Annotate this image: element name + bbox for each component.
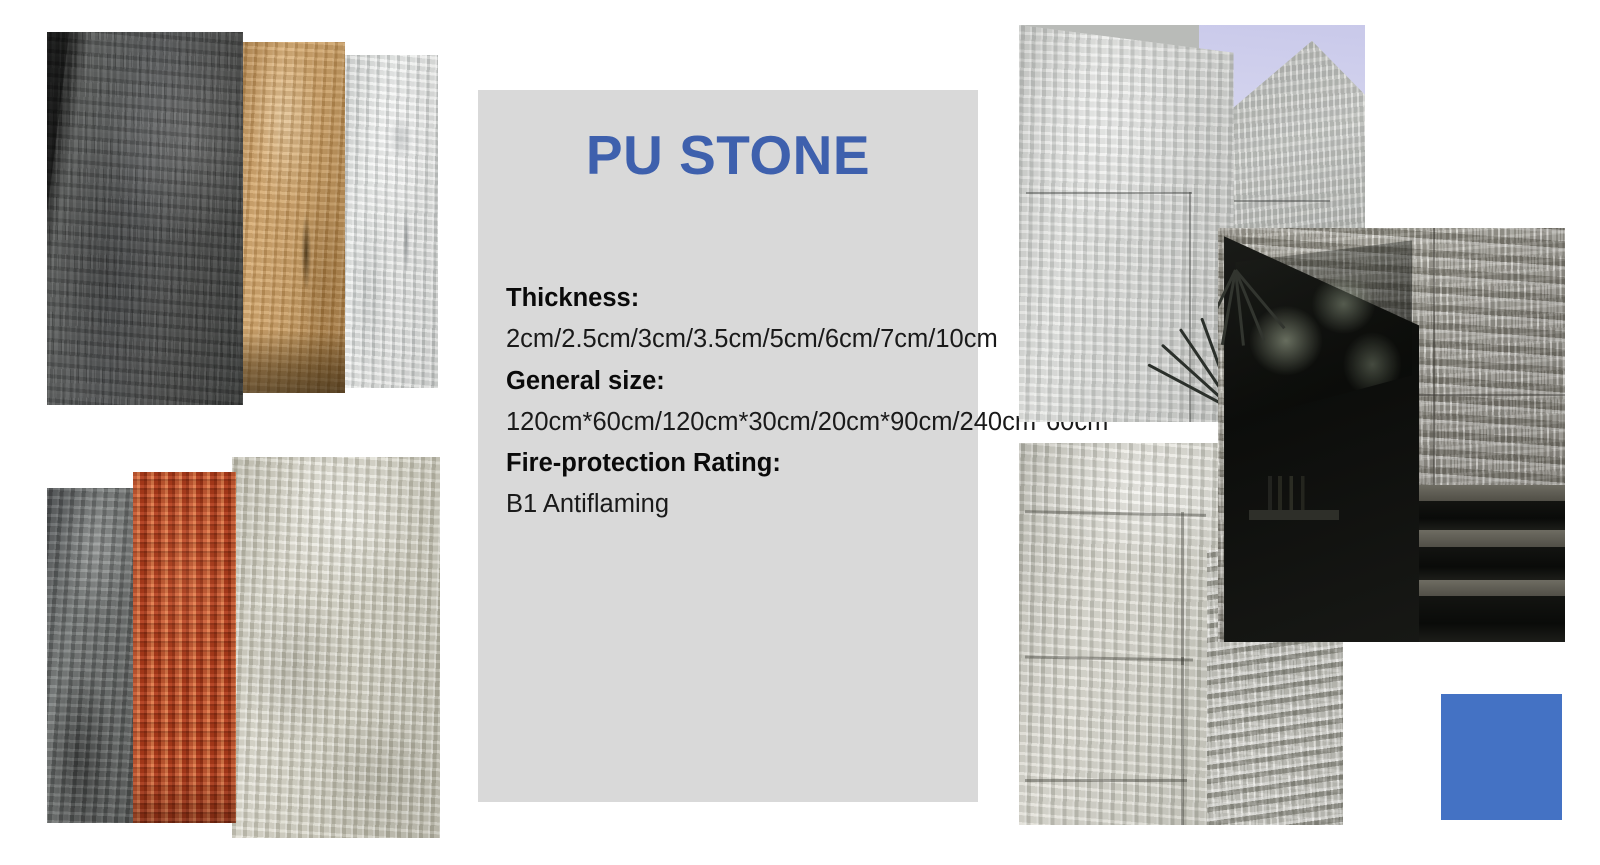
shelf — [1249, 510, 1339, 520]
spec-value-general-size: 120cm*60cm/120cm*30cm/20cm*90cm/240cm*60… — [506, 402, 956, 443]
spec-label-thickness: Thickness: — [506, 278, 956, 319]
spec-label-fire-rating: Fire-protection Rating: — [506, 443, 956, 484]
spec-item-fire-rating: Fire-protection Rating: B1 Antiflaming — [506, 443, 956, 526]
facade-seam — [1025, 779, 1187, 782]
tan-sandstone-sample — [243, 42, 345, 393]
facade-seam — [1025, 510, 1206, 517]
beige-stone-sample — [232, 457, 440, 838]
spec-item-general-size: General size: 120cm*60cm/120cm*30cm/20cm… — [506, 361, 956, 444]
bottles — [1263, 476, 1325, 509]
facade-seam — [1025, 655, 1193, 661]
spec-value-fire-rating: B1 Antiflaming — [506, 484, 956, 525]
facade-seam — [1181, 657, 1184, 825]
palm-plant-left — [1218, 228, 1260, 418]
blue-accent-square — [1441, 694, 1562, 820]
spec-value-thickness: 2cm/2.5cm/3cm/3.5cm/5cm/6cm/7cm/10cm — [506, 319, 956, 360]
spec-label-general-size: General size: — [506, 361, 956, 402]
spec-item-thickness: Thickness: 2cm/2.5cm/3cm/3.5cm/5cm/6cm/7… — [506, 278, 956, 361]
facade-seam — [1181, 512, 1184, 665]
product-slide: PU STONE Thickness: 2cm/2.5cm/3cm/3.5cm/… — [0, 0, 1600, 865]
wall-seam — [1026, 192, 1192, 194]
orange-ribbed-panel-sample — [133, 472, 236, 823]
page-title: PU STONE — [478, 128, 978, 183]
dark-staircase-interior-photo — [1218, 228, 1565, 642]
spec-list: Thickness: 2cm/2.5cm/3cm/3.5cm/5cm/6cm/7… — [506, 278, 956, 526]
wall-seam — [1234, 200, 1331, 202]
dark-gray-stone-sample — [47, 32, 243, 405]
white-stone-sample — [345, 55, 438, 388]
backdrop-seam — [1409, 394, 1565, 396]
info-card: PU STONE Thickness: 2cm/2.5cm/3cm/3.5cm/… — [478, 90, 978, 802]
